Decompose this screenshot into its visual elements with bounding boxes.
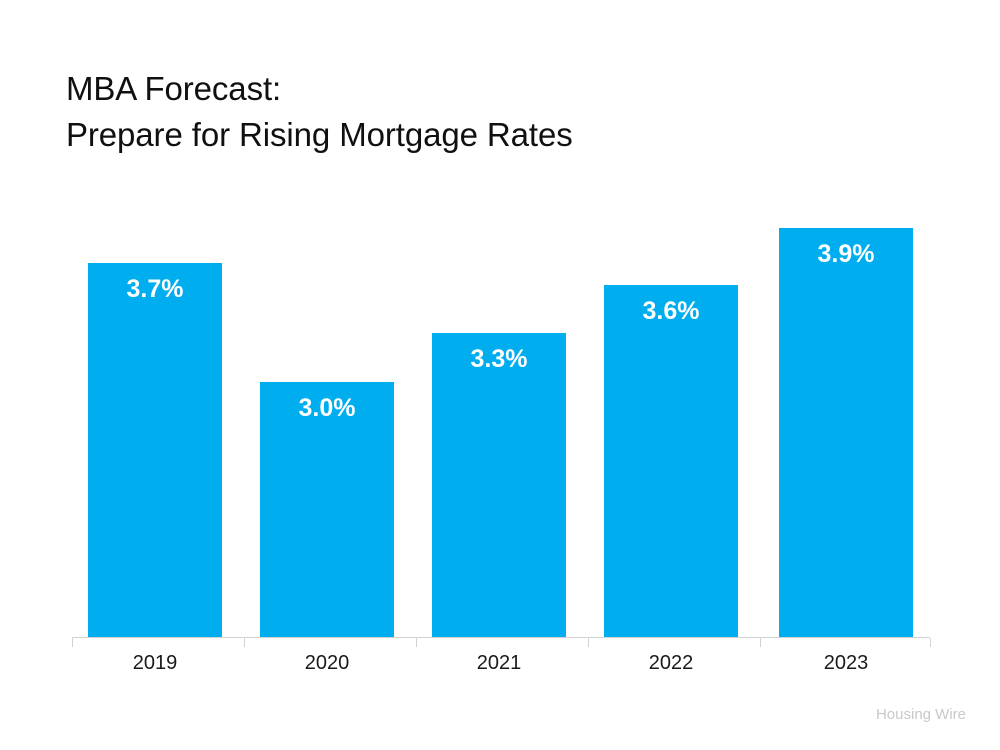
category-label-2021: 2021 [432,650,566,676]
bar-value-label-2022: 3.6% [604,297,738,325]
category-label-2019: 2019 [88,650,222,676]
x-axis-tick-4 [760,638,761,647]
bar-2022 [604,285,738,637]
bar-value-label-2021: 3.3% [432,345,566,373]
category-label-2020: 2020 [260,650,394,676]
x-axis-line [72,637,930,638]
bar-2021 [432,333,566,637]
chart-slide: MBA Forecast: Prepare for Rising Mortgag… [0,0,1000,750]
bar-chart-plot-area: 3.7%3.0%3.3%3.6%3.9% 2019202020212022202… [0,0,1000,750]
category-label-2022: 2022 [604,650,738,676]
x-axis-tick-0 [72,638,73,647]
x-axis-tick-5 [930,638,931,647]
bar-2019 [88,263,222,637]
x-axis-tick-2 [416,638,417,647]
bar-2023 [779,228,913,637]
source-attribution: Housing Wire [876,706,966,723]
category-label-2023: 2023 [779,650,913,676]
bar-value-label-2020: 3.0% [260,394,394,422]
x-axis-tick-1 [244,638,245,647]
x-axis-tick-3 [588,638,589,647]
bar-value-label-2023: 3.9% [779,240,913,268]
bar-value-label-2019: 3.7% [88,275,222,303]
